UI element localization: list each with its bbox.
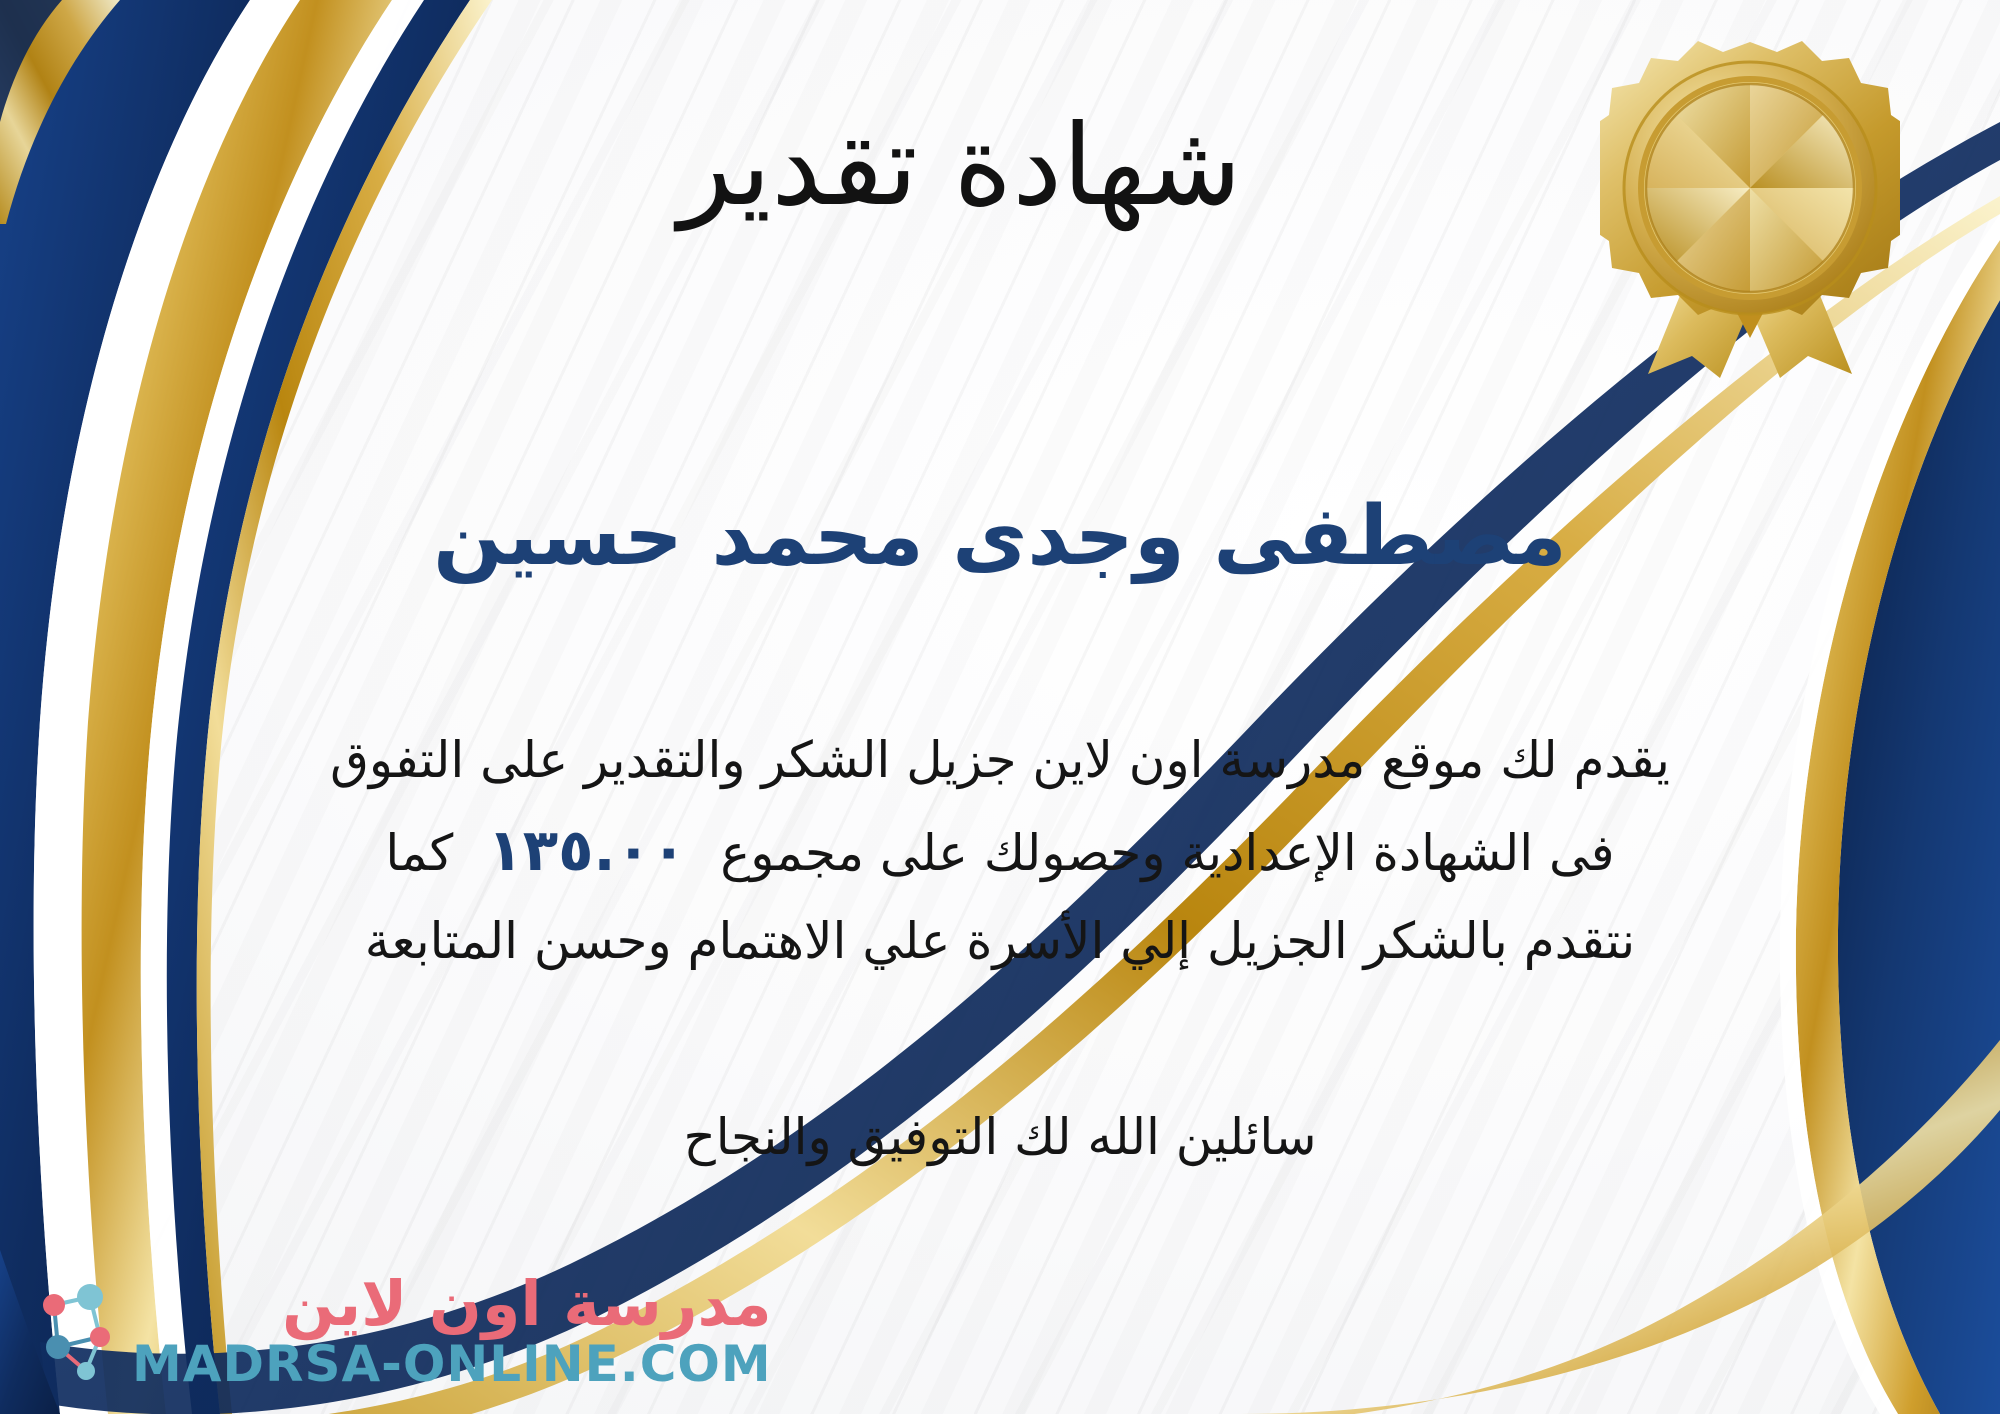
body-line-3: نتقدم بالشكر الجزيل إلي الأسرة علي الاهت… bbox=[46, 899, 1954, 983]
body-line-2: فى الشهادة الإعدادية وحصولك على مجموع١٣٥… bbox=[46, 802, 1954, 899]
closing-line: سائلين الله لك التوفيق والنجاح bbox=[0, 1108, 2000, 1166]
body-line-2-after: كما bbox=[385, 824, 453, 882]
brand-website-url: MADRSA-ONLINE.COM bbox=[132, 1336, 772, 1392]
brand-logo[interactable]: مدرسة اون لاين MADRSA-ONLINE.COM bbox=[28, 1271, 772, 1392]
certificate-body: يقدم لك موقع مدرسة اون لاين جزيل الشكر و… bbox=[46, 718, 1954, 983]
body-line-2-before: فى الشهادة الإعدادية وحصولك على مجموع bbox=[720, 824, 1614, 882]
certificate-canvas: شهادة تقدير مصطفى وجدى محمد حسين يقدم لك… bbox=[0, 0, 2000, 1414]
brand-text: مدرسة اون لاين MADRSA-ONLINE.COM bbox=[132, 1271, 772, 1392]
network-nodes-icon bbox=[28, 1275, 120, 1387]
recipient-name: مصطفى وجدى محمد حسين bbox=[0, 492, 2000, 582]
gold-award-medal-icon bbox=[1600, 38, 1900, 378]
brand-name-arabic: مدرسة اون لاين bbox=[282, 1271, 772, 1336]
grade-total-value: ١٣٥.٠٠ bbox=[453, 816, 720, 884]
body-line-1: يقدم لك موقع مدرسة اون لاين جزيل الشكر و… bbox=[46, 718, 1954, 802]
